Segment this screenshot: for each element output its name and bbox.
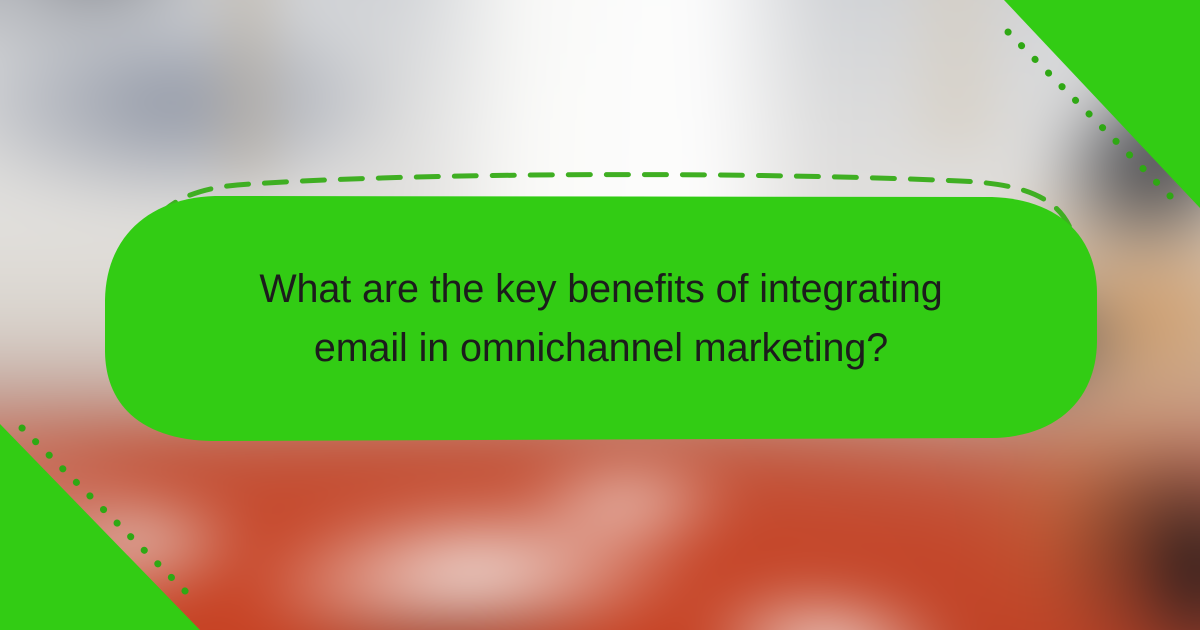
background-shelf-light bbox=[0, 0, 115, 23]
background-post-left bbox=[222, 0, 273, 185]
background-paper-4 bbox=[514, 461, 742, 542]
background-shelf-mid bbox=[0, 0, 415, 218]
question-text-block: What are the key benefits of integrating… bbox=[105, 196, 1097, 441]
question-card-banner: What are the key benefits of integrating… bbox=[0, 0, 1200, 630]
question-line-2: email in omnichannel marketing? bbox=[314, 319, 888, 378]
background-paper-3 bbox=[30, 493, 258, 590]
question-line-1: What are the key benefits of integrating bbox=[259, 260, 942, 319]
